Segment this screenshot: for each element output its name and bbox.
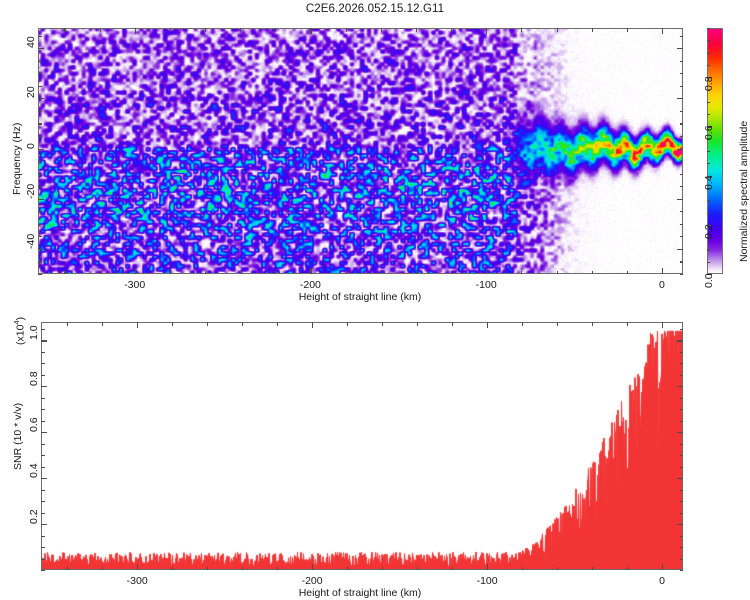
yaxis-tick-right [680,224,684,225]
xaxis-ticklabel: -200 [302,575,323,587]
xaxis-tick [382,567,383,571]
xaxis-tick-top [592,322,593,326]
xaxis-tick-top [522,322,523,326]
yaxis-tick-right [680,73,684,74]
xaxis-ticklabel: -300 [127,575,148,587]
yaxis-tick-right [677,199,683,200]
colorbar-tick [707,200,710,201]
xaxis-tick-top [135,28,136,34]
xaxis-tick-top [381,28,382,32]
yaxis-tick [41,340,47,341]
snr-line-trace [42,323,682,569]
yaxis-tick-right [680,363,684,364]
xaxis-tick [277,567,278,571]
snr-xaxis-label: Height of straight line (km) [299,587,422,599]
yaxis-tick-right [680,455,684,456]
xaxis-tick-top [417,322,418,326]
xaxis-tick-top [64,28,65,32]
xaxis-tick-top [67,322,68,326]
colorbar-tick [707,151,710,152]
yaxis-tick-right [677,149,683,150]
yaxis-tick-right [677,98,683,99]
colorbar-ticklabel: 0.4 [703,175,715,190]
xaxis-tick-top [451,28,452,32]
xaxis-tick-top [592,28,593,32]
xaxis-tick-top [627,322,628,326]
xaxis-ticklabel: -100 [477,575,498,587]
xaxis-tick-top [486,28,487,34]
xaxis-tick-top [240,28,241,32]
xaxis-tick-top [557,28,558,32]
xaxis-tick-top [242,322,243,326]
xaxis-tick-top [310,28,311,34]
yaxis-tick-right [680,123,684,124]
xaxis-tick [347,567,348,571]
xaxis-tick-top [137,322,138,328]
xaxis-tick [312,564,313,570]
xaxis-tick [205,271,206,275]
yaxis-tick [41,490,45,491]
yaxis-tick-right [680,211,684,212]
xaxis-tick [592,271,593,275]
yaxis-tick [41,478,47,479]
yaxis-tick-right [680,536,684,537]
yaxis-tick [38,186,42,187]
xaxis-tick [486,268,487,274]
colorbar-tick [707,40,710,41]
figure-title: C2E6.2026.052.15.12.G11 [0,3,750,15]
xaxis-tick-top [277,322,278,326]
yaxis-tick [41,547,45,548]
xaxis-tick-top [170,28,171,32]
xaxis-ticklabel: -200 [300,279,321,291]
yaxis-tick [38,224,42,225]
colorbar-tick [707,262,710,263]
yaxis-tick [38,236,42,237]
yaxis-tick [38,61,42,62]
yaxis-tick [41,363,45,364]
xaxis-tick [487,564,488,570]
yaxis-tick [38,211,42,212]
yaxis-tick-right [677,524,683,525]
snr-yaxis-label: SNR (10 * v/v) [12,403,24,470]
xaxis-tick [100,271,101,275]
yaxis-tick-right [680,86,684,87]
yaxis-tick-right [680,329,684,330]
yaxis-tick-right [680,570,684,571]
yaxis-tick-right [680,236,684,237]
yaxis-tick [38,48,44,49]
xaxis-tick-top [416,28,417,32]
yaxis-tick-right [680,398,684,399]
colorbar-tick [707,249,710,250]
colorbar-tick [707,28,710,29]
yaxis-tick [38,249,44,250]
xaxis-tick [521,271,522,275]
yaxis-tick [38,123,42,124]
yaxis-tick-right [677,478,683,479]
colorbar-tick [707,53,710,54]
xaxis-tick-top [207,322,208,326]
yaxis-tick [38,73,42,74]
yaxis-tick [38,161,42,162]
xaxis-tick-top [521,28,522,32]
yaxis-tick-right [680,186,684,187]
xaxis-tick [662,564,663,570]
snr-yaxis-multiplier: (x104) [12,317,27,345]
yaxis-tick-right [680,547,684,548]
yaxis-tick [38,149,44,150]
xaxis-tick [240,271,241,275]
multiplier-suffix: ) [15,317,27,321]
snr-axes [41,322,683,570]
snr-plot-area [42,323,682,569]
xaxis-tick [102,567,103,571]
spectrogram-plot-area [39,29,682,273]
yaxis-tick-right [680,375,684,376]
yaxis-tick [38,86,42,87]
yaxis-tick [41,559,45,560]
xaxis-ticklabel: 0 [659,575,665,587]
yaxis-tick [41,421,45,422]
yaxis-tick [38,199,44,200]
yaxis-tick [41,455,45,456]
xaxis-tick [172,567,173,571]
yaxis-tick-right [677,432,683,433]
xaxis-tick-top [205,28,206,32]
xaxis-tick-top [102,322,103,326]
multiplier-exponent: 4 [12,320,21,324]
colorbar-tick [707,102,710,103]
xaxis-tick-top [312,322,313,328]
xaxis-tick-top [382,322,383,326]
xaxis-tick [417,567,418,571]
xaxis-tick [416,271,417,275]
xaxis-tick [137,564,138,570]
yaxis-tick-right [680,261,684,262]
xaxis-tick [310,268,311,274]
xaxis-tick [135,268,136,274]
xaxis-tick [522,567,523,571]
colorbar-ticklabel: 0.2 [703,224,715,239]
xaxis-tick [592,567,593,571]
yaxis-tick-right [677,386,683,387]
xaxis-tick-top [627,28,628,32]
yaxis-tick-right [680,501,684,502]
xaxis-tick-top [100,28,101,32]
spectrogram-axes [38,28,683,274]
figure-canvas: C2E6.2026.052.15.12.G11 -300-200-1000402… [0,0,750,600]
yaxis-tick-right [680,111,684,112]
colorbar-ticklabel: 0.8 [703,77,715,92]
yaxis-tick-right [680,467,684,468]
yaxis-tick-right [680,161,684,162]
xaxis-tick-top [275,28,276,32]
yaxis-tick [41,398,45,399]
yaxis-tick [41,329,45,330]
xaxis-tick [557,567,558,571]
xaxis-tick [275,271,276,275]
xaxis-tick [452,567,453,571]
yaxis-tick [41,467,45,468]
yaxis-tick-right [680,421,684,422]
spectrogram-xaxis-label: Height of straight line (km) [299,291,422,303]
yaxis-tick-right [680,559,684,560]
xaxis-ticklabel: -300 [124,279,145,291]
xaxis-ticklabel: -100 [476,279,497,291]
yaxis-tick [41,432,47,433]
xaxis-ticklabel: 0 [659,279,665,291]
yaxis-tick [41,570,45,571]
yaxis-tick [41,444,45,445]
xaxis-tick [64,271,65,275]
xaxis-tick [451,271,452,275]
xaxis-tick-top [347,322,348,326]
yaxis-tick-right [680,490,684,491]
yaxis-tick-right [680,352,684,353]
xaxis-tick [627,271,628,275]
yaxis-tick-right [680,174,684,175]
yaxis-tick [38,174,42,175]
colorbar-tick [707,114,710,115]
yaxis-tick [41,409,45,410]
xaxis-tick [346,271,347,275]
yaxis-tick [38,274,42,275]
yaxis-tick-right [677,340,683,341]
yaxis-tick [38,36,42,37]
yaxis-tick [38,111,42,112]
yaxis-tick-right [680,409,684,410]
xaxis-tick [662,268,663,274]
xaxis-tick-top [452,322,453,326]
yaxis-tick [38,98,44,99]
yaxis-tick-right [680,513,684,514]
xaxis-tick-top [557,322,558,326]
yaxis-tick [41,513,45,514]
xaxis-tick [242,567,243,571]
colorbar-tick [707,65,710,66]
xaxis-tick-top [346,28,347,32]
yaxis-tick-right [680,61,684,62]
yaxis-tick [38,136,42,137]
colorbar-tick [707,163,710,164]
xaxis-tick [381,271,382,275]
yaxis-tick [41,501,45,502]
yaxis-tick-right [680,274,684,275]
yaxis-tick [41,352,45,353]
yaxis-tick [41,524,47,525]
colorbar-tick [707,213,710,214]
xaxis-tick [170,271,171,275]
yaxis-tick [41,375,45,376]
xaxis-tick [557,271,558,275]
multiplier-prefix: (x10 [15,325,27,345]
yaxis-tick-right [680,36,684,37]
yaxis-tick-right [680,136,684,137]
xaxis-tick [207,567,208,571]
xaxis-tick-top [662,322,663,328]
xaxis-tick-top [487,322,488,328]
yaxis-tick [41,386,47,387]
colorbar-title: Normalized spectral amplitude [738,121,750,262]
xaxis-tick [627,567,628,571]
spectrogram-yaxis-label: Frequency (Hz) [11,123,23,195]
xaxis-tick [67,567,68,571]
xaxis-tick-top [172,322,173,326]
yaxis-tick [41,536,45,537]
xaxis-tick-top [662,28,663,34]
yaxis-tick-right [677,249,683,250]
yaxis-tick-right [677,48,683,49]
spectrogram-image [39,29,682,273]
yaxis-tick-right [680,444,684,445]
yaxis-tick [38,261,42,262]
colorbar-ticklabel: 0.6 [703,126,715,141]
colorbar-ticklabel: 0.0 [703,273,715,288]
